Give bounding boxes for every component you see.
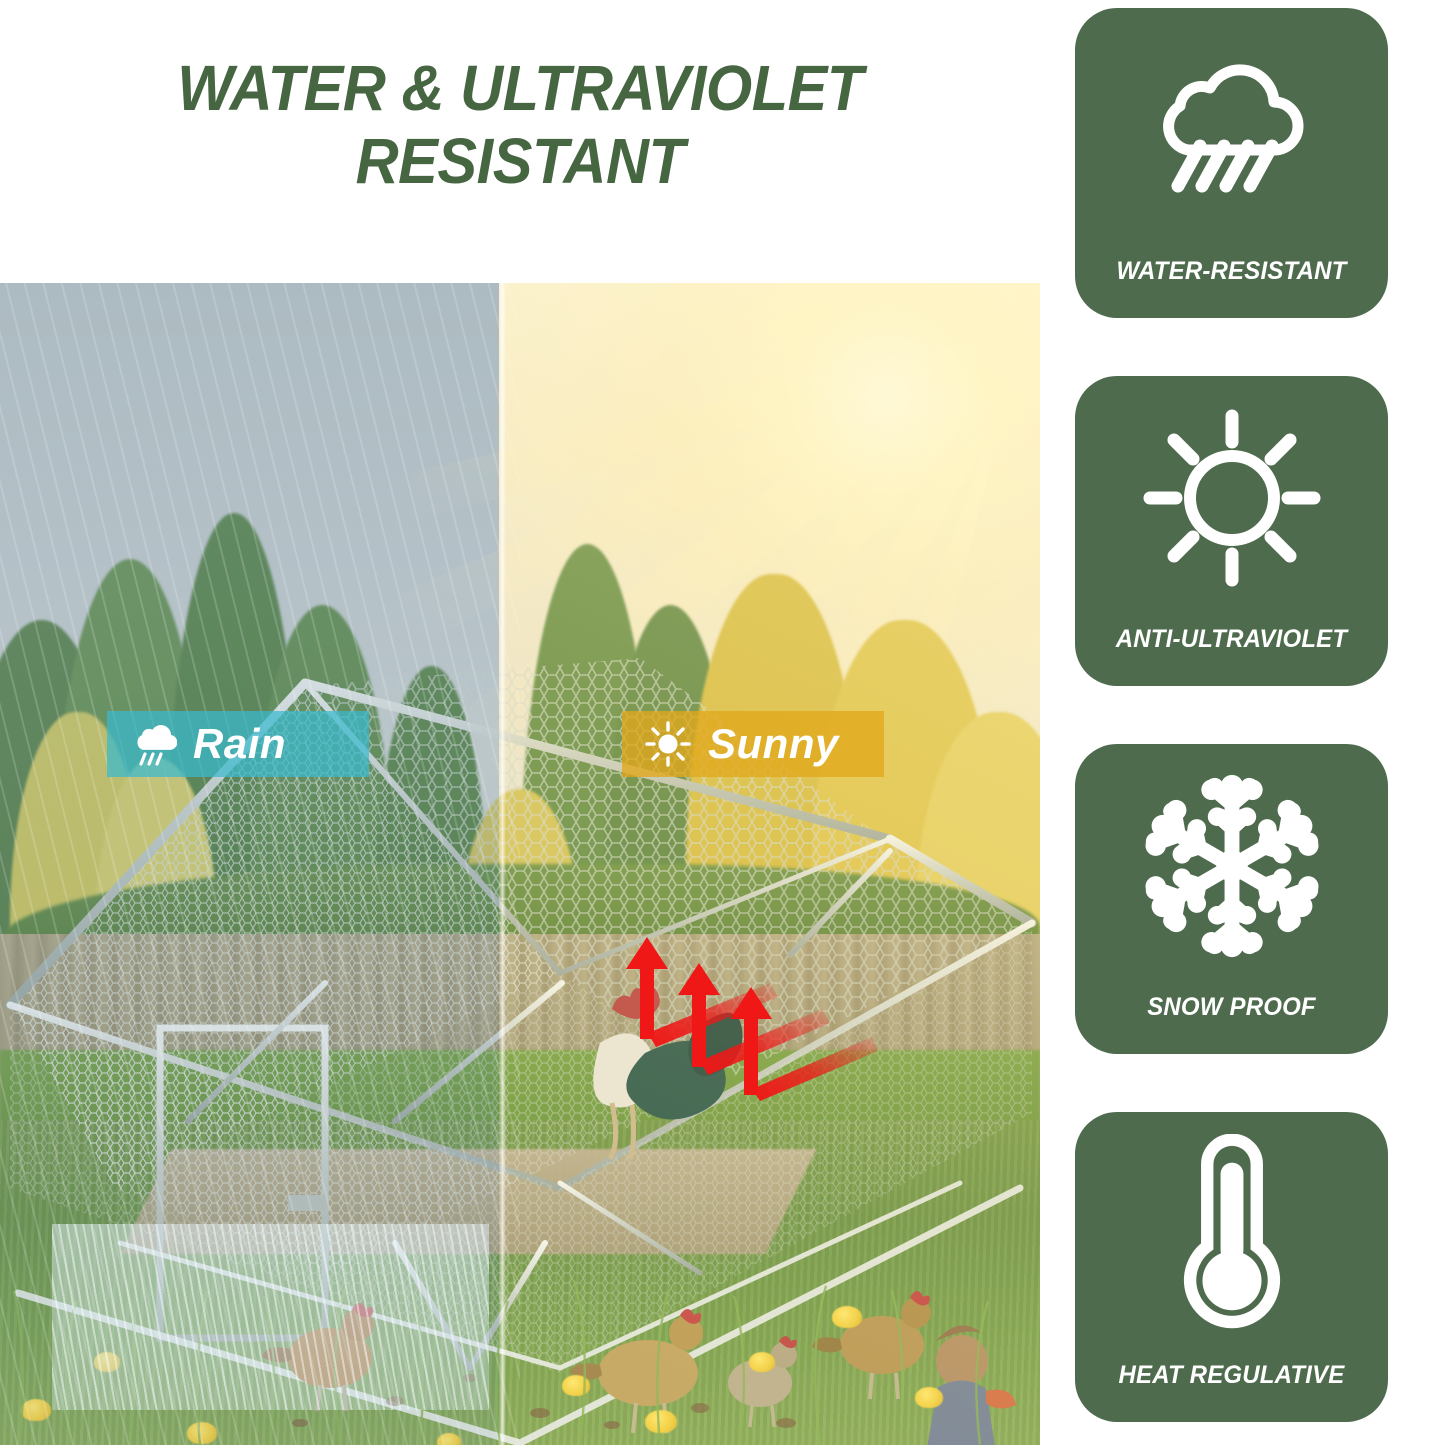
product-feature-infographic: WATER & ULTRAVIOLET RESISTANT <box>0 0 1445 1445</box>
feature-card-list: WATER-RESISTANT <box>1075 8 1388 1422</box>
rain-cloud-icon <box>129 720 177 768</box>
feature-card-label: ANTI-ULTRAVIOLET <box>1081 625 1381 654</box>
product-photo: Rain Sunny <box>0 283 1040 1445</box>
card-icon-slot <box>1137 30 1327 230</box>
sun-icon <box>644 720 692 768</box>
weather-chip-rain: Rain <box>107 711 369 777</box>
weather-chip-sunny: Sunny <box>622 711 884 777</box>
feature-card-label: SNOW PROOF <box>1081 993 1381 1022</box>
weather-chip-sunny-label: Sunny <box>708 723 839 765</box>
feature-card-heat-regulative[interactable]: HEAT REGULATIVE <box>1075 1112 1388 1422</box>
page-title: WATER & ULTRAVIOLET RESISTANT <box>36 52 1003 198</box>
rain-cloud-icon <box>1144 50 1320 210</box>
run-ground <box>120 1149 816 1254</box>
card-icon-slot <box>1137 398 1327 598</box>
feature-card-snow-proof[interactable]: SNOW PROOF <box>1075 744 1388 1054</box>
snowflake-icon <box>1139 773 1325 959</box>
feature-card-label: WATER-RESISTANT <box>1081 257 1381 286</box>
feature-card-anti-ultraviolet[interactable]: ANTI-ULTRAVIOLET <box>1075 376 1388 686</box>
sun-icon <box>1142 408 1322 588</box>
weather-chip-rain-label: Rain <box>193 723 286 765</box>
feature-card-label: HEAT REGULATIVE <box>1081 1361 1381 1390</box>
feature-card-water-resistant[interactable]: WATER-RESISTANT <box>1075 8 1388 318</box>
card-icon-slot <box>1137 766 1327 966</box>
thermometer-icon <box>1157 1134 1307 1334</box>
card-icon-slot <box>1137 1134 1327 1334</box>
